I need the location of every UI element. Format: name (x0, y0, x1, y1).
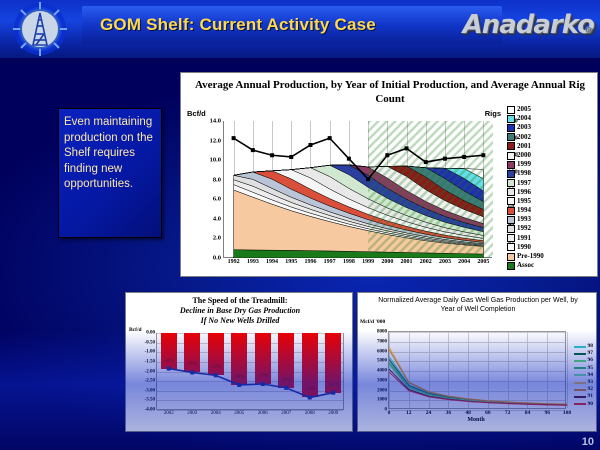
treadmill-point-label: -29% (281, 378, 292, 383)
treadmill-title-line1: The Speed of the Treadmill: (130, 296, 350, 306)
decline-legend-item: 90 (574, 401, 594, 408)
legend-label: 2003 (517, 123, 531, 132)
main-ytick: 4.0 (213, 215, 221, 222)
treadmill-point (331, 391, 335, 395)
decline-xtick: 60 (485, 410, 491, 416)
treadmill-point-label: -20% (163, 359, 174, 364)
main-chart-plot: 0.02.04.06.08.010.012.014.00204060801001… (223, 121, 492, 258)
legend-item: Pre-1990 (507, 252, 593, 261)
treadmill-xtick: 2003 (187, 411, 197, 416)
decline-legend-swatch (574, 367, 586, 369)
legend-swatch (507, 142, 515, 150)
decline-xtick: 48 (465, 410, 471, 416)
legend-label: 1997 (517, 179, 531, 188)
decline-plot: 8000700060005000400030002000100000122436… (388, 331, 566, 409)
treadmill-gridline (157, 410, 343, 411)
decline-legend-swatch (574, 346, 586, 348)
treadmill-point-label: -27% (257, 374, 268, 379)
legend-label: 2004 (517, 114, 531, 123)
decline-ytick: 2000 (377, 388, 387, 393)
main-xtick: 2000 (381, 259, 393, 265)
decline-ytick: 5000 (377, 359, 387, 364)
treadmill-xtick: 2009 (328, 411, 338, 416)
decline-xtick: 36 (446, 410, 452, 416)
decline-ytick: 6000 (377, 349, 387, 354)
treadmill-ytick: -3.50 (145, 398, 155, 403)
main-xtick: 1996 (304, 259, 316, 265)
legend-swatch (507, 243, 515, 251)
main-xtick: 1999 (362, 259, 374, 265)
main-xtick: 2003 (439, 259, 451, 265)
legend-item: 1998 (507, 169, 593, 178)
legend-swatch (507, 234, 515, 242)
decline-xtick: 72 (505, 410, 511, 416)
legend-label: Assoc (517, 261, 534, 270)
legend-swatch (507, 225, 515, 233)
decline-ytick: 3000 (377, 378, 387, 383)
treadmill-plot: 0.00-0.50-1.00-1.50-2.00-2.50-3.00-3.50-… (156, 333, 344, 410)
legend-item: 1995 (507, 197, 593, 206)
main-stack-areas (224, 121, 493, 258)
decline-gridline-h (389, 410, 565, 411)
main-ytick: 8.0 (213, 176, 221, 183)
treadmill-ytick: -1.00 (145, 350, 155, 355)
decline-series-98 (389, 356, 567, 404)
rig-count-marker (366, 177, 370, 181)
main-xtick: 1998 (343, 259, 355, 265)
registered-mark: ® (584, 14, 592, 48)
decline-ytick: 0 (385, 408, 388, 413)
decline-legend-swatch (574, 382, 586, 384)
treadmill-point (214, 373, 218, 377)
legend-item: 2001 (507, 142, 593, 151)
treadmill-title-line3: If No New Wells Drilled (130, 316, 350, 326)
decline-ytick: 4000 (377, 369, 387, 374)
legend-label: 1992 (517, 224, 531, 233)
rig-count-marker (462, 155, 466, 159)
legend-label: 2001 (517, 142, 531, 151)
legend-swatch (507, 253, 515, 261)
callout-textbox: Even maintaining production on the Shelf… (58, 108, 162, 238)
decline-ytick: 7000 (377, 339, 387, 344)
legend-swatch (507, 188, 515, 196)
decline-legend-label: 91 (588, 393, 594, 400)
legend-swatch (507, 106, 515, 114)
rig-count-marker (385, 153, 389, 157)
decline-legend-label: 95 (588, 365, 594, 372)
decline-legend-label: 97 (588, 350, 594, 357)
legend-item: 2005 (507, 105, 593, 114)
treadmill-xtick: 2006 (258, 411, 268, 416)
page-title: GOM Shelf: Current Activity Case (100, 12, 440, 38)
decline-xtick: 108 (563, 410, 571, 416)
rig-count-marker (270, 153, 274, 157)
treadmill-xtick: 2007 (281, 411, 291, 416)
treadmill-ytick: -3.00 (145, 388, 155, 393)
treadmill-chart-title: The Speed of the Treadmill: Decline in B… (130, 296, 350, 326)
treadmill-ytick: -4.00 (145, 408, 155, 413)
legend-label: 2002 (517, 133, 531, 142)
decline-series-97 (389, 359, 567, 404)
legend-swatch (507, 197, 515, 205)
legend-item: 1992 (507, 224, 593, 233)
main-xtick: 1997 (324, 259, 336, 265)
legend-label: 1996 (517, 188, 531, 197)
legend-label: 1999 (517, 160, 531, 169)
decline-legend-label: 92 (588, 386, 594, 393)
main-xtick: 2002 (420, 259, 432, 265)
decline-series-group (389, 332, 567, 410)
decline-series-96 (389, 361, 567, 404)
legend-item: 2002 (507, 133, 593, 142)
legend-item: Assoc (507, 261, 593, 270)
decline-legend-label: 94 (588, 372, 594, 379)
treadmill-ytick: -1.50 (145, 359, 155, 364)
treadmill-point (308, 395, 312, 399)
legend-item: 1990 (507, 243, 593, 252)
decline-legend-item: 94 (574, 372, 594, 379)
decline-legend-item: 92 (574, 386, 594, 393)
treadmill-point-label: -31% (328, 383, 339, 388)
page-number: 10 (582, 436, 594, 448)
rig-count-marker (424, 160, 428, 164)
decline-xtick: 24 (426, 410, 432, 416)
treadmill-ylabel: Bcf/d (129, 327, 142, 333)
treadmill-point (167, 367, 171, 371)
legend-item: 1993 (507, 215, 593, 224)
rig-count-marker (308, 143, 312, 147)
treadmill-point (237, 383, 241, 387)
rig-count-marker (481, 153, 485, 157)
main-ytick: 0.0 (213, 255, 221, 262)
rig-count-marker (443, 157, 447, 161)
legend-item: 1994 (507, 206, 593, 215)
rig-count-marker (347, 157, 351, 161)
decline-legend-item: 98 (574, 343, 594, 350)
treadmill-ytick: -0.50 (145, 340, 155, 345)
legend-label: 1995 (517, 197, 531, 206)
decline-legend-label: 90 (588, 401, 594, 408)
legend-swatch (507, 161, 515, 169)
main-xtick: 2001 (401, 259, 413, 265)
treadmill-xtick: 2002 (164, 411, 174, 416)
forecast-hatch-region (368, 121, 493, 258)
main-xtick: 1995 (285, 259, 297, 265)
treadmill-point-label: -20% (187, 362, 198, 367)
decline-xlabel: Month (388, 417, 564, 423)
legend-label: 2000 (517, 151, 531, 160)
decline-legend-item: 93 (574, 379, 594, 386)
main-xtick: 2004 (458, 259, 470, 265)
treadmill-point (190, 370, 194, 374)
treadmill-point (284, 386, 288, 390)
main-ytick: 6.0 (213, 196, 221, 203)
decline-series-93 (389, 347, 567, 405)
legend-swatch (507, 179, 515, 187)
legend-label: 1994 (517, 206, 531, 215)
legend-swatch (507, 170, 515, 178)
decline-legend-label: 98 (588, 343, 594, 350)
anadarko-logo: Anadarko ® (434, 8, 594, 42)
main-xtick: 1994 (266, 259, 278, 265)
decline-series-92 (389, 350, 567, 405)
treadmill-point (261, 382, 265, 386)
decline-legend-swatch (574, 389, 586, 391)
main-chart-ylabel2: Rigs (485, 109, 501, 118)
treadmill-ytick: -2.50 (145, 379, 155, 384)
slide-canvas: GOM Shelf: Current Activity Case Anadark… (0, 0, 600, 450)
decline-xtick: 96 (544, 410, 550, 416)
legend-item: 2003 (507, 123, 593, 132)
main-xtick: 2005 (477, 259, 489, 265)
decline-legend-item: 96 (574, 357, 594, 364)
main-ytick: 2.0 (213, 235, 221, 242)
legend-label: 2005 (517, 105, 531, 114)
legend-swatch (507, 216, 515, 224)
decline-gridline-v (567, 332, 568, 408)
slide-header: GOM Shelf: Current Activity Case Anadark… (0, 0, 600, 58)
main-ytick: 12.0 (210, 137, 221, 144)
treadmill-title-line2: Decline in Base Dry Gas Production (130, 306, 350, 316)
main-chart-ylabel: Bcf/d (187, 109, 206, 118)
decline-legend-swatch (574, 360, 586, 362)
treadmill-chart-panel: The Speed of the Treadmill: Decline in B… (125, 292, 353, 432)
decline-xtick: 0 (388, 410, 391, 416)
legend-swatch (507, 207, 515, 215)
treadmill-xtick: 2004 (211, 411, 221, 416)
legend-swatch (507, 115, 515, 123)
legend-swatch (507, 124, 515, 132)
legend-item: 1996 (507, 188, 593, 197)
main-ytick: 10.0 (210, 157, 221, 164)
decline-ytick: 8000 (377, 330, 387, 335)
legend-item: 1997 (507, 179, 593, 188)
rig-count-marker (405, 146, 409, 150)
decline-legend-label: 93 (588, 379, 594, 386)
rig-count-marker (289, 155, 293, 159)
legend-item: 1991 (507, 234, 593, 243)
legend-label: 1991 (517, 234, 531, 243)
decline-legend-swatch (574, 403, 586, 405)
treadmill-xtick: 2008 (305, 411, 315, 416)
legend-item: 1999 (507, 160, 593, 169)
main-xtick: 1992 (228, 259, 240, 265)
legend-label: 1998 (517, 169, 531, 178)
decline-ytick: 1000 (377, 398, 387, 403)
main-chart-legend: 2005200420032002200120001999199819971996… (507, 105, 593, 270)
decline-legend-label: 96 (588, 357, 594, 364)
decline-legend-swatch (574, 396, 586, 398)
treadmill-point-label: -34% (304, 387, 315, 392)
main-ytick: 14.0 (210, 118, 221, 125)
legend-swatch (507, 133, 515, 141)
legend-swatch (507, 152, 515, 160)
decline-legend-item: 95 (574, 365, 594, 372)
brand-wordmark: Anadarko (463, 10, 594, 40)
decline-legend-item: 97 (574, 350, 594, 357)
compass-derrick-icon (6, 2, 78, 56)
decline-legend-item: 91 (574, 393, 594, 400)
decline-chart-panel: Normalized Average Daily Gas Well Gas Pr… (357, 292, 597, 432)
treadmill-point-label: -22% (210, 365, 221, 370)
legend-item: 2004 (507, 114, 593, 123)
treadmill-ytick: -2.00 (145, 369, 155, 374)
main-chart-title: Average Annual Production, by Year of In… (189, 78, 591, 106)
treadmill-ytick: 0.00 (146, 331, 155, 336)
treadmill-point-label: -28% (234, 375, 245, 380)
main-xtick: 1993 (247, 259, 259, 265)
main-chart-panel: Average Annual Production, by Year of In… (180, 72, 598, 277)
decline-xtick: 84 (525, 410, 531, 416)
decline-ylabel: Mcf/d '000 (360, 319, 385, 325)
legend-swatch (507, 262, 515, 270)
legend-label: 1990 (517, 243, 531, 252)
rig-count-marker (251, 148, 255, 152)
rig-count-marker (232, 136, 236, 140)
decline-series-95 (389, 363, 567, 405)
decline-legend-swatch (574, 353, 586, 355)
decline-legend: 989796959493929190 (574, 343, 594, 408)
treadmill-decline-line (157, 333, 345, 410)
legend-label: 1993 (517, 215, 531, 224)
decline-xtick: 12 (406, 410, 412, 416)
rig-count-marker (328, 136, 332, 140)
legend-item: 2000 (507, 151, 593, 160)
legend-label: Pre-1990 (517, 252, 544, 261)
treadmill-xtick: 2005 (234, 411, 244, 416)
decline-legend-swatch (574, 374, 586, 376)
decline-chart-title: Normalized Average Daily Gas Well Gas Pr… (376, 296, 580, 314)
